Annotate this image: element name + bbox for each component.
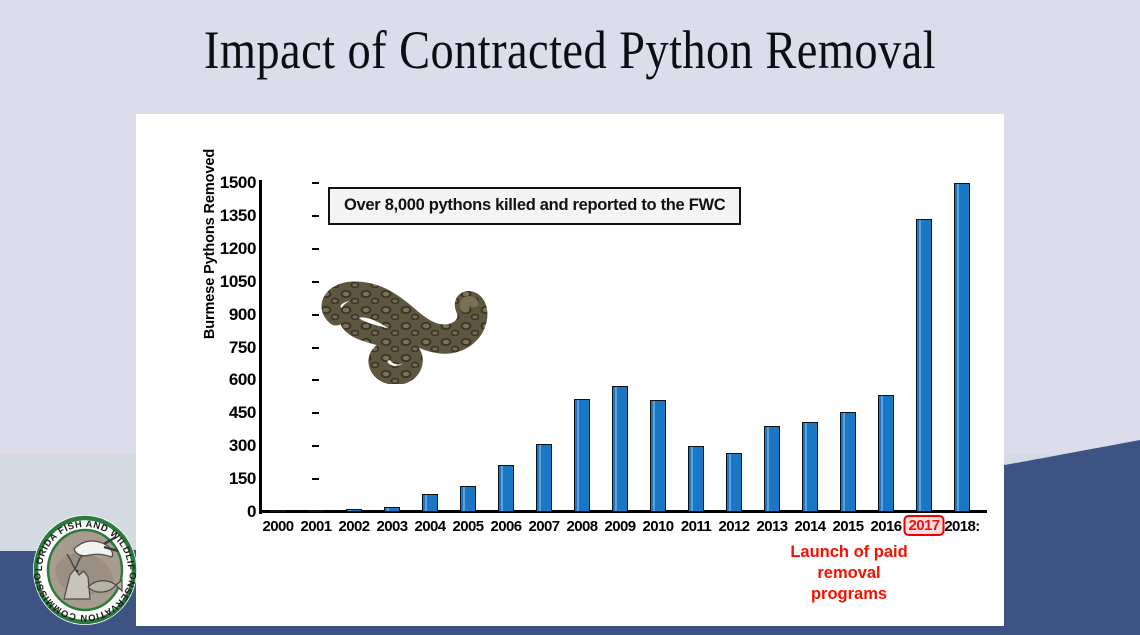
annotation-line-1: Launch of paid bbox=[744, 542, 954, 563]
x-tick-label-2001: 2001 bbox=[301, 518, 332, 535]
bar-2008 bbox=[574, 399, 590, 512]
x-tick-label-2002: 2002 bbox=[339, 518, 370, 535]
bar-2009 bbox=[612, 386, 628, 512]
x-tick-label-2017: 2017 bbox=[904, 515, 945, 536]
x-tick-label-2009: 2009 bbox=[605, 518, 636, 535]
y-tick-label: 150 bbox=[204, 469, 256, 489]
x-tick-label-2011: 2011 bbox=[681, 518, 711, 535]
bar-2014 bbox=[802, 422, 818, 512]
bar-2005 bbox=[460, 486, 476, 512]
burmese-python-photo bbox=[319, 272, 515, 384]
page-title: Impact of Contracted Python Removal bbox=[80, 22, 1060, 79]
bar-2007 bbox=[536, 444, 552, 512]
bar-2012 bbox=[726, 453, 742, 512]
deer-eye bbox=[76, 570, 78, 572]
bar-2002 bbox=[346, 509, 362, 512]
annotation-line-3: programs bbox=[744, 584, 954, 605]
bar-chart: Burmese Pythons Removed 0150300450600750… bbox=[136, 114, 1004, 626]
x-tick-label-2014: 2014 bbox=[795, 518, 826, 535]
x-tick-label-2013: 2013 bbox=[757, 518, 788, 535]
y-tick-label: 300 bbox=[204, 436, 256, 456]
bar-2003 bbox=[384, 507, 400, 512]
x-tick-label-2016: 2016 bbox=[871, 518, 902, 535]
y-tick-label: 900 bbox=[204, 305, 256, 325]
annotation-launch-of-paid-removal: Launch of paid removal programs bbox=[744, 542, 954, 605]
y-tick-label: 0 bbox=[204, 502, 256, 522]
x-tick-label-2000: 2000 bbox=[263, 518, 294, 535]
annotation-line-2: removal bbox=[744, 563, 954, 584]
y-tick-label: 1050 bbox=[204, 272, 256, 292]
fwc-logo: FLORIDA FISH AND WILDLIFE CONSERVATION C… bbox=[26, 511, 144, 629]
y-tick-label: 600 bbox=[204, 370, 256, 390]
callout-box: Over 8,000 pythons killed and reported t… bbox=[328, 187, 741, 225]
bar-2017 bbox=[916, 219, 932, 512]
y-axis-ticks: 01503004506007509001050120013501500 bbox=[196, 114, 256, 626]
bar-2018 bbox=[954, 183, 970, 512]
bar-2010 bbox=[650, 400, 666, 512]
bar-2016 bbox=[878, 395, 894, 512]
x-tick-label-2003: 2003 bbox=[377, 518, 408, 535]
bar-2000 bbox=[270, 510, 286, 512]
x-tick-label-2004: 2004 bbox=[415, 518, 446, 535]
x-tick-label-2005: 2005 bbox=[453, 518, 484, 535]
x-tick-label-2006: 2006 bbox=[491, 518, 522, 535]
bar-2001 bbox=[308, 510, 324, 512]
bar-2015 bbox=[840, 412, 856, 512]
x-tick-label-2015: 2015 bbox=[833, 518, 864, 535]
x-tick-label-2012: 2012 bbox=[719, 518, 750, 535]
x-tick-label-2018: 2018: bbox=[944, 518, 979, 535]
x-tick-label-2010: 2010 bbox=[643, 518, 674, 535]
x-tick-label-2007: 2007 bbox=[529, 518, 560, 535]
bar-2013 bbox=[764, 426, 780, 512]
y-tick-label: 1200 bbox=[204, 239, 256, 259]
chart-panel: Burmese Pythons Removed 0150300450600750… bbox=[136, 114, 1004, 626]
bar-2006 bbox=[498, 465, 514, 512]
y-tick-label: 750 bbox=[204, 338, 256, 358]
y-tick-label: 1500 bbox=[204, 173, 256, 193]
bar-2011 bbox=[688, 446, 704, 512]
bar-2004 bbox=[422, 494, 438, 512]
y-tick-label: 450 bbox=[204, 403, 256, 423]
y-tick-label: 1350 bbox=[204, 206, 256, 226]
x-tick-label-2008: 2008 bbox=[567, 518, 598, 535]
